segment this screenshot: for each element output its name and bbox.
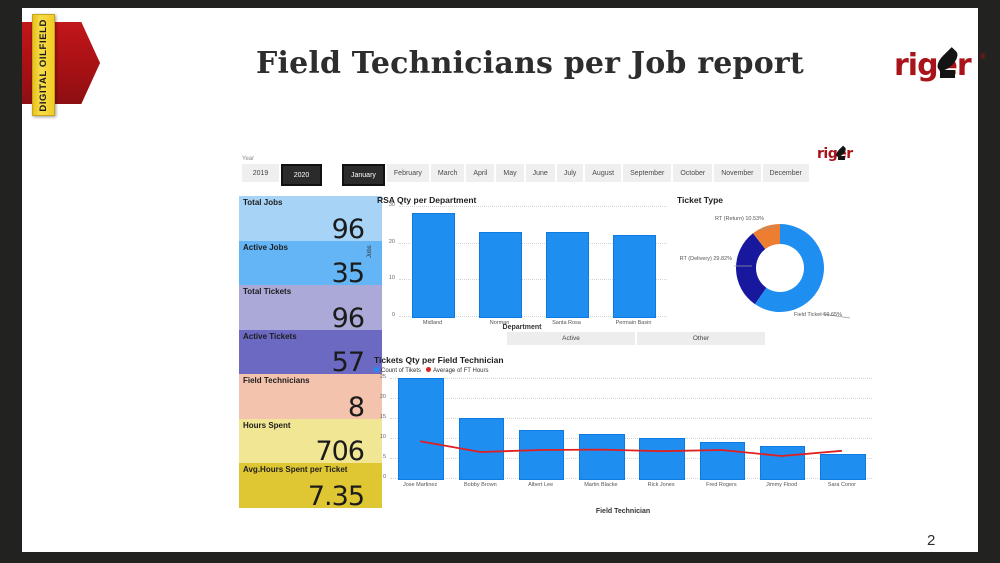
donut-label: RT (Delivery) 29.82%	[678, 256, 732, 263]
chart-legend: Count of Tikets Average of FT Hours	[374, 367, 489, 374]
legend-item-count: Count of Tikets	[374, 367, 421, 374]
slide-canvas: DIGITAL OILFIELD Field Technicians per J…	[22, 8, 978, 552]
kpi-label: Total Jobs	[243, 198, 282, 207]
month-button-october[interactable]: October	[673, 164, 712, 182]
rsa-qty-bar-chart: 0102030MidlandNormanSanta RosaPermain Ba…	[377, 206, 667, 334]
droplet-base-icon	[940, 70, 955, 78]
year-button-2020[interactable]: 2020	[281, 164, 322, 186]
ribbon-tab: DIGITAL OILFIELD	[32, 14, 55, 116]
donut-label: RT (Return) 10.53%	[692, 216, 764, 223]
bar	[479, 232, 523, 318]
month-button-july[interactable]: July	[557, 164, 583, 182]
riger-logo: riger ®	[894, 48, 994, 86]
axis-title-department: Department	[377, 324, 667, 331]
filter-button-other[interactable]: Other	[637, 332, 765, 345]
dashboard-riger-logo: riger	[817, 146, 863, 164]
bar	[412, 213, 456, 318]
powerbi-dashboard: riger Year 20192020 JanuaryFebruaryMarch…	[217, 128, 877, 518]
legend-label-count: Count of Tikets	[381, 368, 421, 374]
filter-button-active[interactable]: Active	[507, 332, 635, 345]
kpi-card: Hours Spent706	[239, 419, 382, 464]
kpi-label: Total Tickets	[243, 287, 291, 296]
ribbon-label: DIGITAL OILFIELD	[38, 19, 49, 112]
registered-mark: ®	[980, 52, 986, 61]
kpi-card: Field Technicians8	[239, 374, 382, 419]
tickets-per-technician-chart: 0510152025Jose MartinezBobby BrownAlbert…	[374, 378, 872, 496]
month-button-january[interactable]: January	[342, 164, 385, 186]
kpi-label: Active Jobs	[243, 243, 288, 252]
axis-title-field-technician: Field Technician	[374, 508, 872, 515]
kpi-card: Active Jobs35	[239, 241, 382, 286]
legend-label-avg: Average of FT Hours	[433, 368, 488, 374]
gridline	[399, 206, 667, 207]
month-button-june[interactable]: June	[526, 164, 555, 182]
month-button-august[interactable]: August	[585, 164, 621, 182]
month-button-may[interactable]: May	[496, 164, 523, 182]
kpi-label: Field Technicians	[243, 376, 310, 385]
ticket-type-donut-chart: Field Ticket 59.65%RT (Delivery) 29.82%R…	[672, 206, 872, 334]
kpi-card: Active Tickets57	[239, 330, 382, 375]
page-title: Field Technicians per Job report	[250, 46, 810, 81]
legend-dot-red-icon	[426, 367, 431, 372]
month-button-november[interactable]: November	[714, 164, 760, 182]
month-button-march[interactable]: March	[431, 164, 464, 182]
month-button-december[interactable]: December	[763, 164, 809, 182]
legend-item-avg: Average of FT Hours	[426, 367, 488, 374]
kpi-card: Avg.Hours Spent per Ticket7.35	[239, 463, 382, 508]
kpi-label: Active Tickets	[243, 332, 297, 341]
bar	[546, 232, 590, 318]
kpi-card-stack: Total Jobs96Active Jobs35Total Tickets96…	[239, 196, 382, 508]
kpi-card: Total Jobs96	[239, 196, 382, 241]
year-button-2019[interactable]: 2019	[242, 164, 279, 182]
bar	[613, 235, 657, 318]
riger-logo-text: riger	[894, 48, 971, 83]
kpi-value: 7.35	[308, 481, 364, 512]
chart-title-ticket-type: Ticket Type	[677, 195, 723, 205]
month-button-april[interactable]: April	[466, 164, 494, 182]
y-axis-tick: 30	[377, 202, 395, 208]
digital-oilfield-ribbon: DIGITAL OILFIELD	[22, 22, 118, 104]
kpi-card: Total Tickets96	[239, 285, 382, 330]
axis-title-jobs: Jobs	[367, 245, 373, 258]
status-filter-bar[interactable]: ActiveOther	[507, 332, 765, 345]
y-axis-tick: 10	[377, 275, 395, 281]
donut-label: Field Ticket 59.65%	[794, 312, 874, 319]
legend-dot-blue-icon	[374, 367, 379, 372]
kpi-label: Avg.Hours Spent per Ticket	[243, 465, 347, 474]
y-axis-tick: 0	[377, 312, 395, 318]
page-number: 2	[927, 532, 935, 549]
chart-title-tickets-tech: Tickets Qty per Field Technician	[374, 355, 504, 365]
kpi-label: Hours Spent	[243, 421, 291, 430]
year-slicer[interactable]: 20192020	[242, 164, 322, 186]
year-slicer-label: Year	[242, 156, 254, 162]
month-button-september[interactable]: September	[623, 164, 671, 182]
month-button-february[interactable]: February	[387, 164, 429, 182]
month-slicer[interactable]: JanuaryFebruaryMarchAprilMayJuneJulyAugu…	[342, 164, 809, 186]
y-axis-tick: 20	[377, 239, 395, 245]
average-hours-line	[374, 378, 872, 496]
droplet-small-base-icon	[838, 156, 845, 160]
